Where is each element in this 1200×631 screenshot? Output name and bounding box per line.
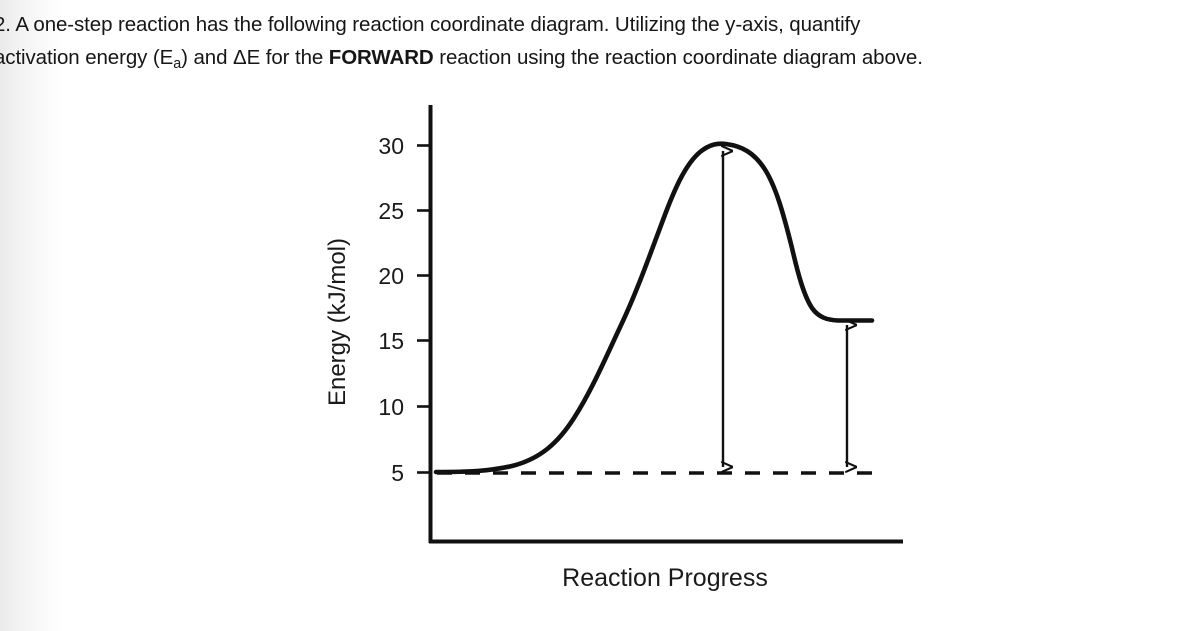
reaction-coordinate-diagram: 30 25 20 15 10 5 Energy (kJ/mol) Reactio… — [0, 0, 1200, 631]
y-axis-title: Energy (kJ/mol) — [324, 238, 351, 406]
y-tick-label-15: 15 — [378, 328, 404, 354]
energy-profile-curve — [436, 144, 872, 472]
y-tick-label-25: 25 — [378, 198, 404, 224]
x-axis-title: Reaction Progress — [562, 564, 768, 592]
y-tick-label-10: 10 — [378, 394, 404, 420]
y-tick-label-30: 30 — [378, 133, 404, 159]
y-tick-label-20: 20 — [378, 263, 404, 289]
y-tick-label-5: 5 — [391, 460, 404, 486]
